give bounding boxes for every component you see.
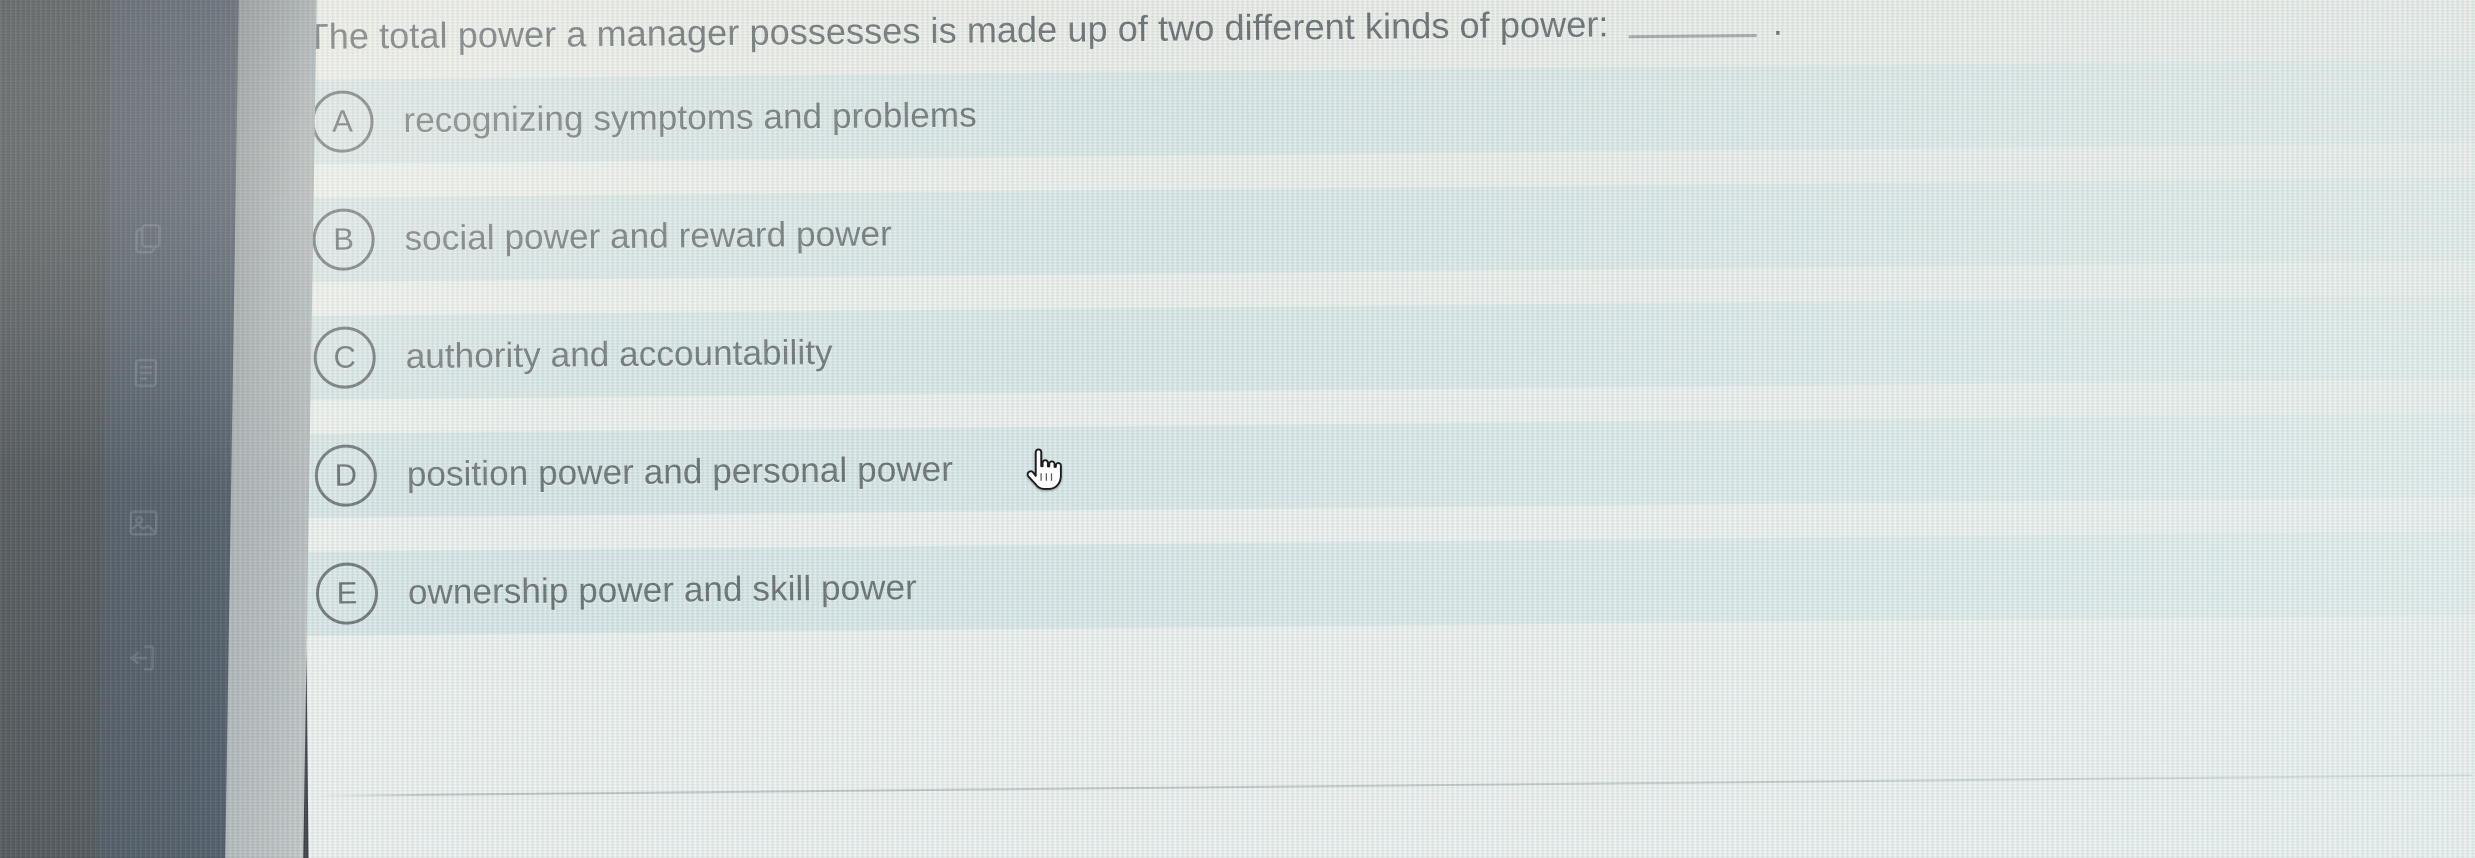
app-sidebar[interactable] <box>97 0 247 858</box>
choice-letter-c[interactable]: C <box>313 326 376 389</box>
choice-text-e[interactable]: ownership power and skill power <box>408 568 917 613</box>
page-margin-strip <box>225 0 317 858</box>
choice-text-d[interactable]: position power and personal power <box>407 450 954 495</box>
choice-text-a[interactable]: recognizing symptoms and problems <box>403 96 977 142</box>
choice-row-d[interactable]: D position power and personal power <box>304 409 2475 522</box>
footer-divider <box>312 774 2472 797</box>
choice-letter-b[interactable]: B <box>312 208 375 271</box>
question-block: The total power a manager possesses is m… <box>300 0 2475 858</box>
image-icon[interactable] <box>120 500 167 546</box>
choice-row-a[interactable]: A recognizing symptoms and problems <box>301 55 2475 168</box>
choice-letter-e[interactable]: E <box>316 562 379 625</box>
choice-row-e[interactable]: E ownership power and skill power <box>306 527 2475 640</box>
question-stem-period: . <box>1773 2 1784 43</box>
choice-list: A recognizing symptoms and problems B so… <box>301 55 2475 666</box>
choice-row-b[interactable]: B social power and reward power <box>302 173 2475 286</box>
choice-letter-a[interactable]: A <box>311 90 374 153</box>
question-stem: The total power a manager possesses is m… <box>306 0 1783 61</box>
choice-text-c[interactable]: authority and accountability <box>406 333 833 377</box>
answer-blank <box>1629 34 1757 38</box>
question-stem-text: The total power a manager possesses is m… <box>306 3 1608 56</box>
copy-icon[interactable] <box>125 215 172 261</box>
arrow-left-exit-icon[interactable] <box>118 635 165 681</box>
choice-letter-d[interactable]: D <box>315 444 378 507</box>
monitor-photo: The total power a manager possesses is m… <box>0 0 2475 858</box>
choice-row-c[interactable]: C authority and accountability <box>303 291 2475 404</box>
document-lines-icon[interactable] <box>123 350 170 396</box>
pointing-hand-cursor <box>1022 448 1062 496</box>
choice-text-b[interactable]: social power and reward power <box>404 214 892 259</box>
quiz-page: The total power a manager possesses is m… <box>300 0 2475 858</box>
